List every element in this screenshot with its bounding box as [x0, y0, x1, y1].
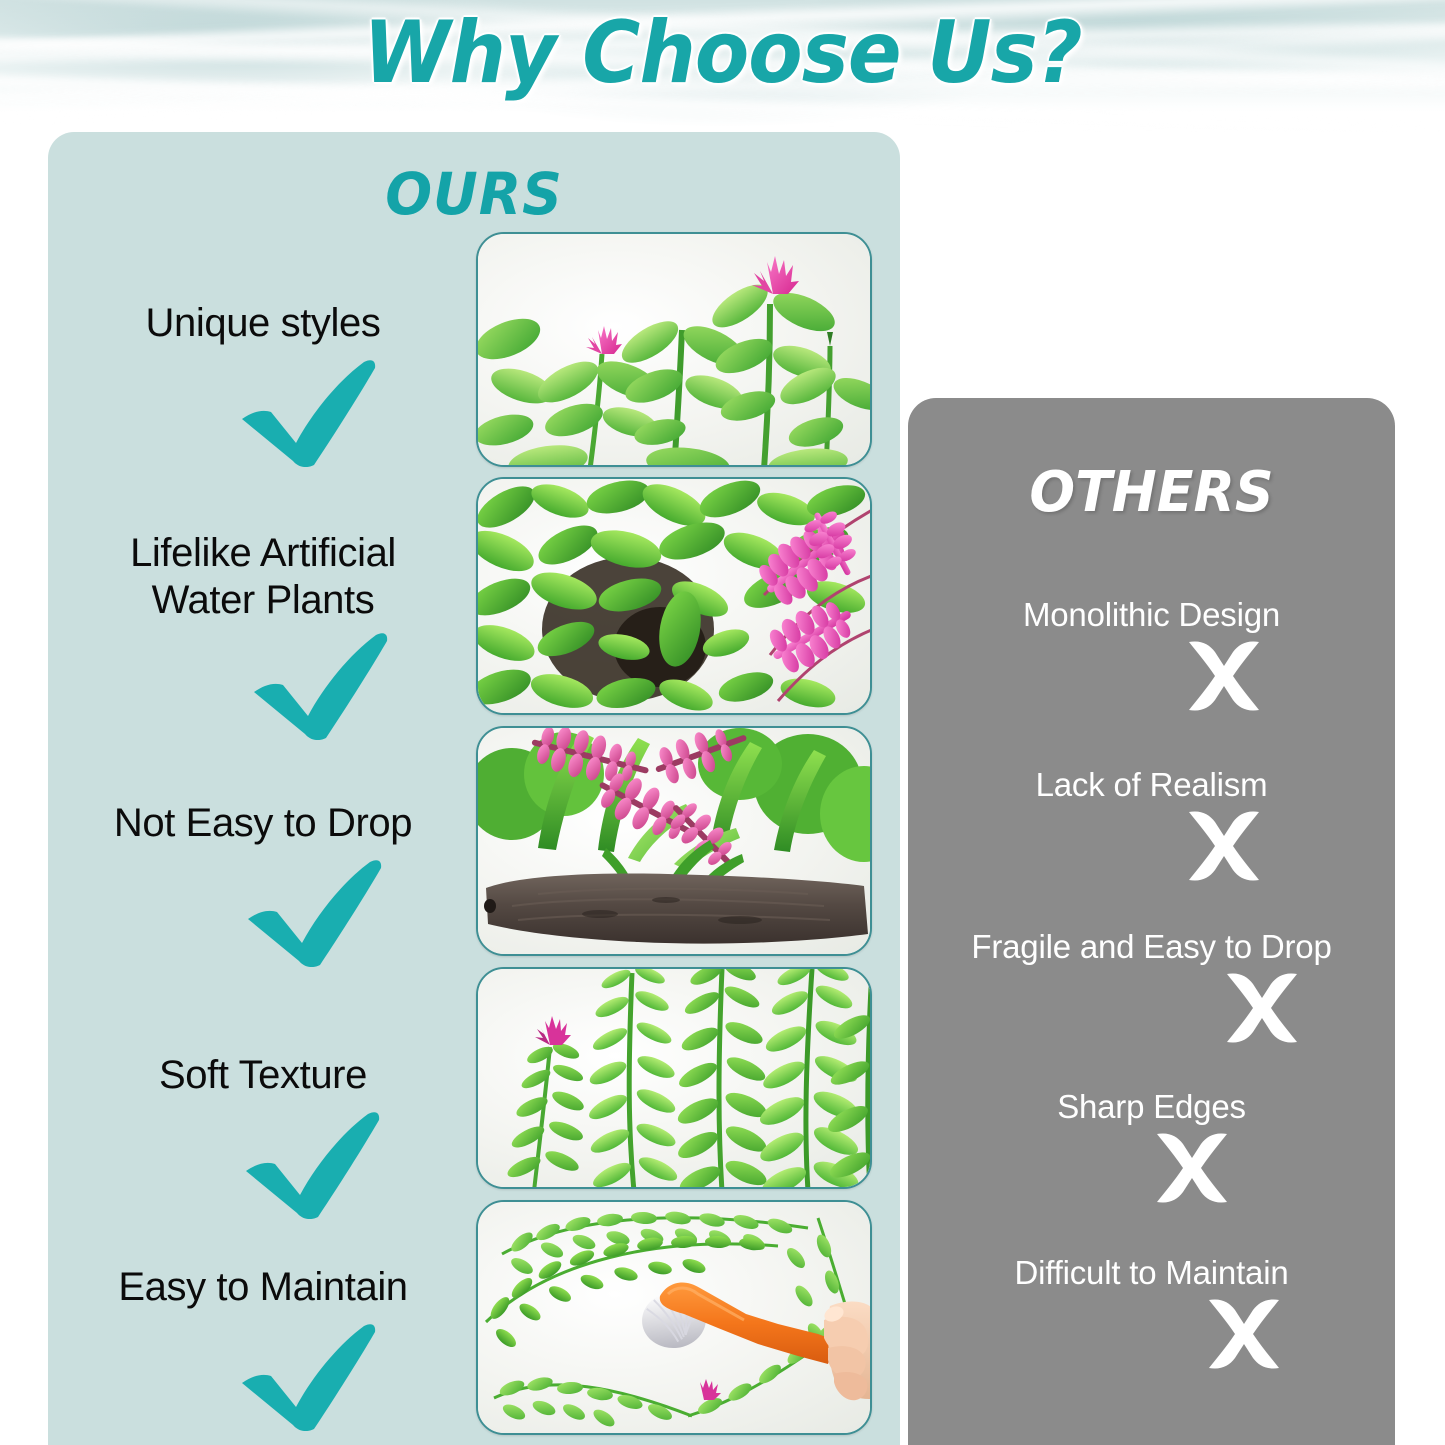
photo-scene	[478, 234, 870, 465]
check-icon	[94, 357, 524, 467]
check-icon	[100, 857, 530, 967]
page-title: Why Choose Us?	[58, 8, 1387, 98]
ours-feature-label: Soft Texture	[48, 1052, 478, 1099]
ours-feature-unique-styles: Unique styles	[48, 300, 478, 467]
others-item-lack-of-realism: Lack of Realism	[908, 766, 1395, 886]
cross-icon	[948, 1128, 1435, 1208]
others-panel: OTHERS Monolithic Design Lack of Realism…	[908, 398, 1395, 1445]
ours-feature-lifelike-artificial-water-plants: Lifelike Artificial Water Plants	[48, 530, 478, 740]
check-icon	[98, 1109, 528, 1219]
photo-scene	[478, 969, 870, 1187]
ours-feature-label: Lifelike Artificial Water Plants	[48, 530, 478, 624]
photo-scene	[478, 728, 870, 954]
cross-icon	[1018, 968, 1445, 1048]
others-item-sharp-edges: Sharp Edges	[908, 1088, 1395, 1208]
others-item-label: Monolithic Design	[908, 596, 1395, 634]
others-item-label: Lack of Realism	[908, 766, 1395, 804]
ours-feature-easy-to-maintain: Easy to Maintain	[48, 1264, 478, 1431]
ours-feature-soft-texture: Soft Texture	[48, 1052, 478, 1219]
ours-photo-1	[476, 232, 872, 467]
ours-photo-5	[476, 1200, 872, 1435]
cross-icon	[1000, 1294, 1445, 1374]
others-item-monolithic-design: Monolithic Design	[908, 596, 1395, 716]
photo-scene	[478, 1202, 870, 1433]
ours-heading: OURS	[69, 160, 878, 228]
ours-feature-label: Not Easy to Drop	[48, 800, 478, 847]
ours-photo-4	[476, 967, 872, 1189]
others-item-difficult-to-maintain: Difficult to Maintain	[908, 1254, 1395, 1374]
ours-feature-label: Unique styles	[48, 300, 478, 347]
cross-icon	[980, 806, 1445, 886]
others-item-label: Difficult to Maintain	[908, 1254, 1395, 1292]
ours-photo-3	[476, 726, 872, 956]
check-icon	[106, 630, 536, 740]
ours-photo-2	[476, 477, 872, 715]
ours-feature-label: Easy to Maintain	[48, 1264, 478, 1311]
others-item-label: Fragile and Easy to Drop	[908, 928, 1395, 966]
ours-feature-not-easy-to-drop: Not Easy to Drop	[48, 800, 478, 967]
infographic-canvas: Why Choose Us? OURS Unique styles Lifeli…	[0, 0, 1445, 1445]
others-heading: OTHERS	[918, 460, 1386, 525]
check-icon	[94, 1321, 524, 1431]
photo-scene	[478, 479, 870, 713]
others-item-fragile-and-easy-to-drop: Fragile and Easy to Drop	[908, 928, 1395, 1048]
cross-icon	[980, 636, 1445, 716]
others-item-label: Sharp Edges	[908, 1088, 1395, 1126]
ours-panel: OURS Unique styles Lifelike Artificial W…	[48, 132, 900, 1445]
